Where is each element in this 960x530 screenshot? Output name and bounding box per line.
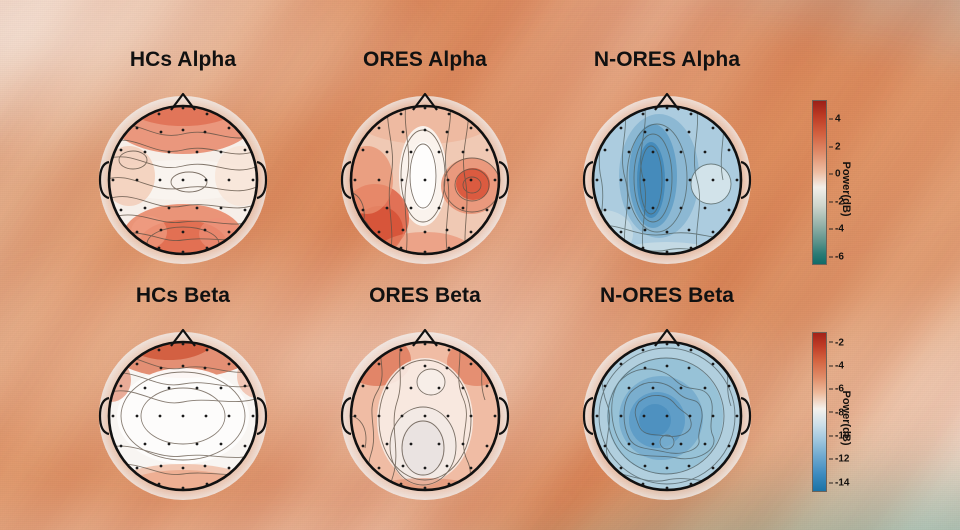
colorbar-tick-label: -6 — [835, 251, 844, 262]
colorbar-tick-mark — [829, 174, 833, 175]
colorbar-beta-label: Power(dB) — [840, 391, 852, 446]
colorbar-tick-mark — [829, 435, 833, 436]
panel-title: N-ORES Beta — [552, 284, 782, 308]
colorbar-tick-mark — [829, 119, 833, 120]
colorbar-beta: -2-4-6-8-10-12-14 Power(dB) — [812, 332, 882, 492]
colorbar-tick-mark — [829, 365, 833, 366]
topomap-hcs-alpha — [89, 84, 277, 272]
topomap-svg — [331, 84, 519, 272]
colorbar-tick-label: -4 — [835, 224, 844, 235]
colorbar-alpha-label: Power(dB) — [840, 161, 852, 216]
panel-title: N-ORES Alpha — [552, 48, 782, 72]
colorbar-tick-label: -14 — [835, 477, 849, 488]
topomap-n-ores-alpha — [573, 84, 761, 272]
colorbar-tick: -4 — [829, 224, 844, 235]
eeg-topomap-figure: HCs Alpha — [0, 0, 960, 530]
colorbar-tick-label: 4 — [835, 114, 841, 125]
colorbar-tick-mark — [829, 389, 833, 390]
colorbar-alpha-gradient — [812, 100, 827, 265]
panel-ores-beta: ORES Beta — [310, 284, 540, 524]
topomap-svg — [331, 320, 519, 508]
panel-title: HCs Beta — [68, 284, 298, 308]
colorbar-tick-label: -12 — [835, 454, 849, 465]
panel-n-ores-alpha: N-ORES Alpha — [552, 48, 782, 288]
topomap-n-ores-beta — [573, 320, 761, 508]
colorbar-tick-label: -2 — [835, 337, 844, 348]
colorbar-tick: -2 — [829, 337, 844, 348]
panel-hcs-beta: HCs Beta — [68, 284, 298, 524]
colorbar-tick-mark — [829, 256, 833, 257]
colorbar-beta-gradient — [812, 332, 827, 492]
topomap-svg — [573, 320, 761, 508]
colorbar-tick: -12 — [829, 454, 849, 465]
panel-title: HCs Alpha — [68, 48, 298, 72]
panel-title: ORES Alpha — [310, 48, 540, 72]
topomap-ores-alpha — [331, 84, 519, 272]
panel-title: ORES Beta — [310, 284, 540, 308]
colorbar-tick-mark — [829, 201, 833, 202]
colorbar-tick-mark — [829, 342, 833, 343]
colorbar-tick-label: -4 — [835, 360, 844, 371]
colorbar-tick: -6 — [829, 251, 844, 262]
panel-n-ores-beta: N-ORES Beta — [552, 284, 782, 524]
topomap-hcs-beta — [89, 320, 277, 508]
colorbar-tick: 2 — [829, 141, 841, 152]
topomap-svg — [573, 84, 761, 272]
colorbar-tick-mark — [829, 229, 833, 230]
topomap-svg — [89, 320, 277, 508]
colorbar-tick: -14 — [829, 477, 849, 488]
colorbar-tick: 0 — [829, 169, 841, 180]
topomap-svg — [89, 84, 277, 272]
colorbar-alpha: 420-2-4-6 Power(dB) — [812, 100, 882, 265]
colorbar-tick-mark — [829, 146, 833, 147]
panel-hcs-alpha: HCs Alpha — [68, 48, 298, 288]
colorbar-tick: 4 — [829, 114, 841, 125]
colorbar-tick-mark — [829, 412, 833, 413]
panel-ores-alpha: ORES Alpha — [310, 48, 540, 288]
colorbar-tick-mark — [829, 482, 833, 483]
colorbar-tick: -4 — [829, 360, 844, 371]
colorbar-tick-mark — [829, 459, 833, 460]
topomap-ores-beta — [331, 320, 519, 508]
colorbar-tick-label: 2 — [835, 141, 841, 152]
